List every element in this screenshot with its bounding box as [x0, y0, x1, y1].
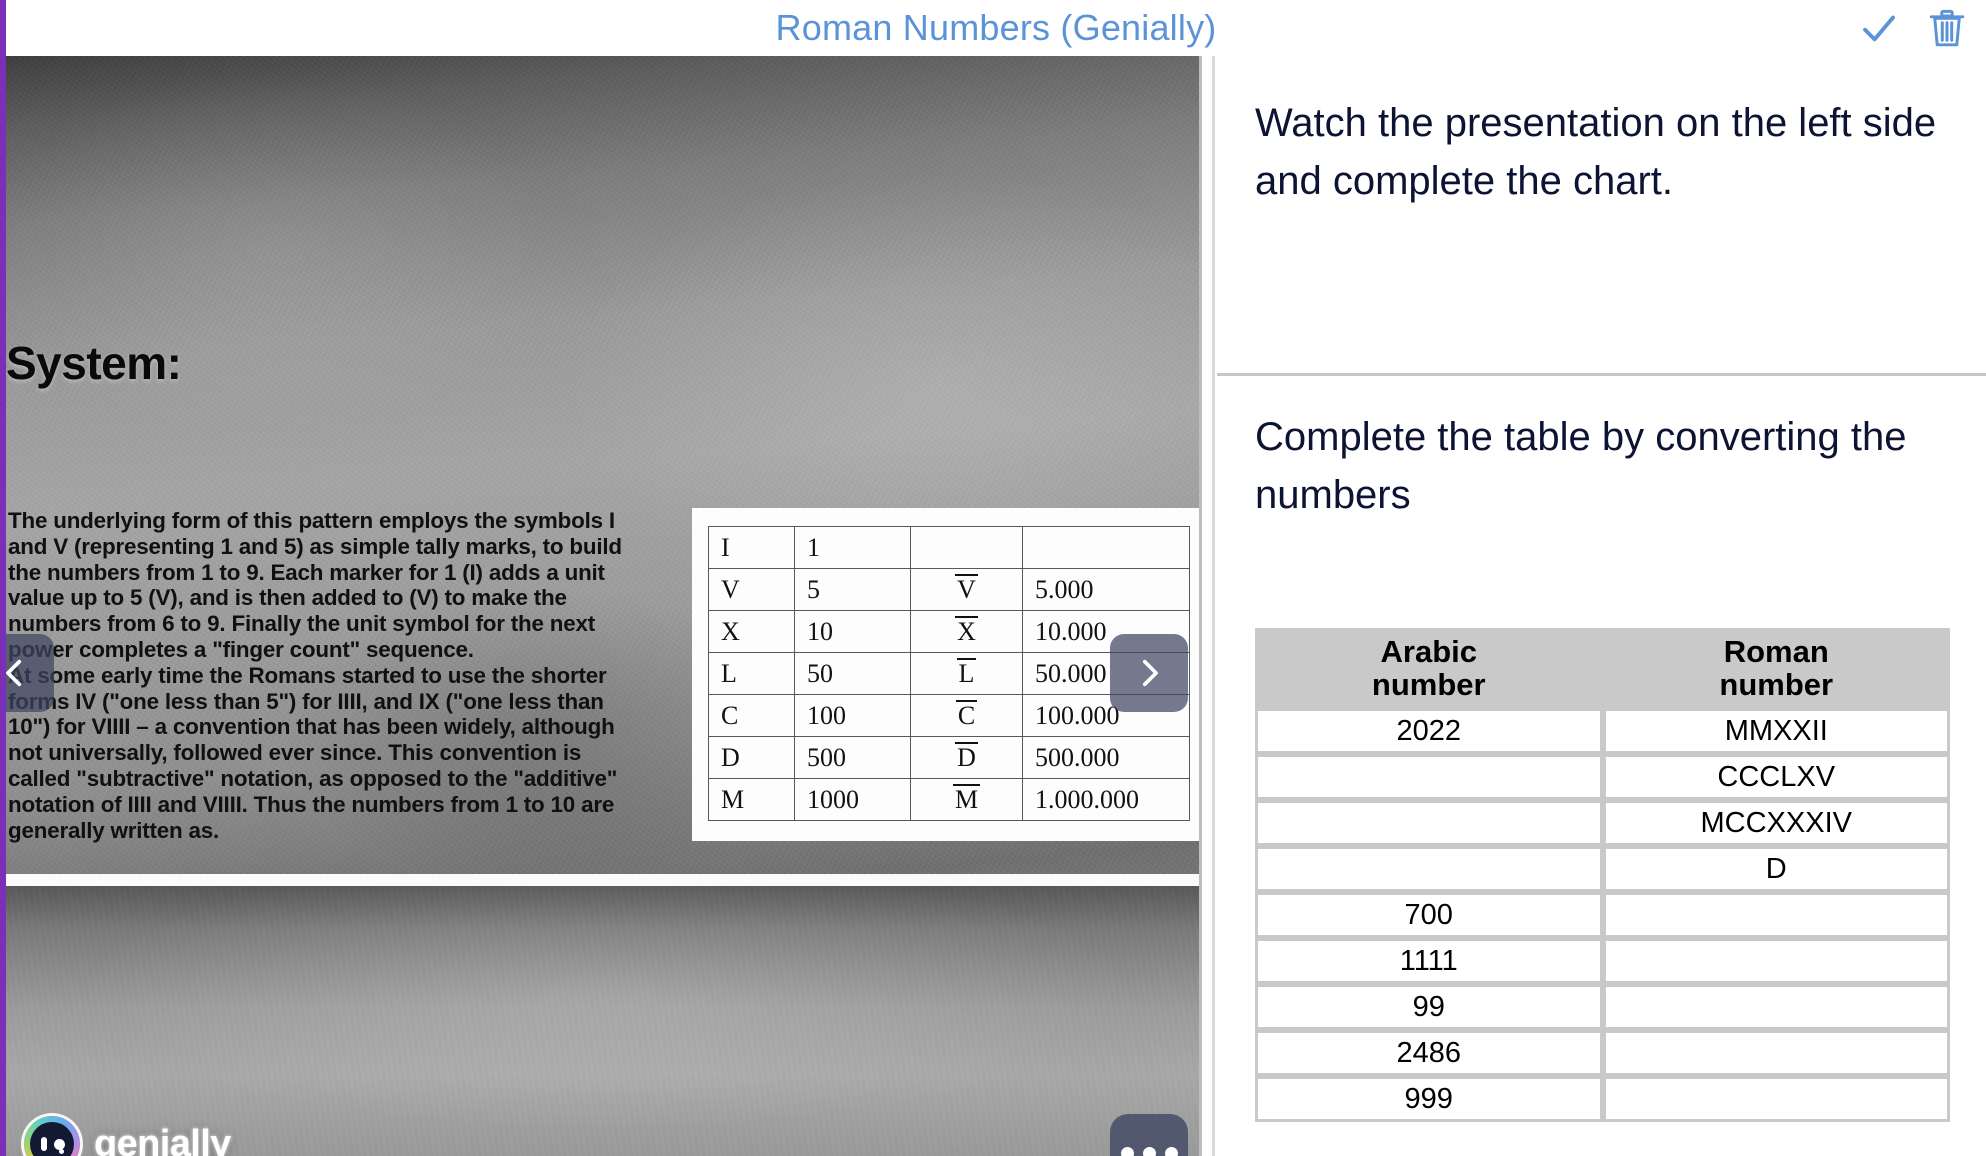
- numeral-barred-value: 1.000.000: [1023, 779, 1190, 821]
- cell-arabic[interactable]: 1111: [1255, 938, 1603, 984]
- page-title: Roman Numbers (Genially): [776, 7, 1217, 49]
- overbar-glyph: C: [956, 700, 977, 729]
- overbar-glyph: D: [955, 742, 978, 771]
- confirm-check-icon[interactable]: [1858, 7, 1900, 49]
- ellipsis-dot-icon: [1165, 1147, 1178, 1156]
- numeral-barred-value: 500.000: [1023, 737, 1190, 779]
- numeral-value: 1000: [795, 779, 911, 821]
- table-header-row: Arabic number Roman number: [1255, 628, 1950, 708]
- section-divider: [1217, 373, 1986, 376]
- slide-canvas: System: The underlying form of this patt…: [6, 56, 1199, 1156]
- table-row[interactable]: MCCXXXIV: [1255, 800, 1950, 846]
- table-row[interactable]: 99: [1255, 984, 1950, 1030]
- activity-pane: Watch the presentation on the left side …: [1215, 56, 1986, 1156]
- numeral-value: 100: [795, 695, 911, 737]
- header-actions: [1858, 0, 1968, 56]
- slide-heading: System:: [6, 336, 181, 390]
- numeral-barred-symbol: [911, 527, 1023, 569]
- cell-arabic[interactable]: 2486: [1255, 1030, 1603, 1076]
- cell-roman[interactable]: [1603, 1076, 1951, 1122]
- prev-slide-button[interactable]: [6, 634, 54, 712]
- cell-arabic[interactable]: [1255, 846, 1603, 892]
- numeral-symbol: M: [709, 779, 795, 821]
- cell-roman[interactable]: [1603, 892, 1951, 938]
- table-row[interactable]: 2022 MMXXII: [1255, 708, 1950, 754]
- numeral-symbol: V: [709, 569, 795, 611]
- genially-wordmark: genially: [94, 1123, 231, 1156]
- table-row: D 500 D 500.000: [709, 737, 1190, 779]
- cell-roman[interactable]: [1603, 984, 1951, 1030]
- chevron-right-icon: [1132, 656, 1166, 690]
- column-header-roman-line1: Roman: [1612, 635, 1942, 668]
- table-row[interactable]: 1111: [1255, 938, 1950, 984]
- next-slide-button[interactable]: [1110, 634, 1188, 712]
- cell-roman[interactable]: [1603, 1030, 1951, 1076]
- pane-divider: [1199, 56, 1215, 1156]
- numeral-value: 5: [795, 569, 911, 611]
- numeral-barred-symbol: C: [911, 695, 1023, 737]
- numeral-value: 500: [795, 737, 911, 779]
- cell-arabic[interactable]: 2022: [1255, 708, 1603, 754]
- genially-logo-face: [30, 1122, 74, 1156]
- cell-arabic[interactable]: [1255, 800, 1603, 846]
- delete-trash-icon[interactable]: [1926, 7, 1968, 49]
- cell-arabic[interactable]: 99: [1255, 984, 1603, 1030]
- slide-divider-band: [6, 874, 1199, 886]
- instruction-watch-presentation: Watch the presentation on the left side …: [1215, 94, 1986, 210]
- column-header-arabic: Arabic number: [1255, 628, 1603, 708]
- numeral-barred-value: 5.000: [1023, 569, 1190, 611]
- table-row[interactable]: D: [1255, 846, 1950, 892]
- genially-logo-icon: [24, 1116, 80, 1156]
- slide-body-text: The underlying form of this pattern empl…: [8, 508, 638, 843]
- cell-roman[interactable]: [1603, 938, 1951, 984]
- cell-roman[interactable]: CCCLXV: [1603, 754, 1951, 800]
- overbar-glyph: M: [953, 784, 980, 813]
- table-row: I 1: [709, 527, 1190, 569]
- conversion-table[interactable]: Arabic number Roman number 2022 MMXXII C: [1255, 628, 1950, 1122]
- cell-roman[interactable]: MCCXXXIV: [1603, 800, 1951, 846]
- column-header-roman: Roman number: [1603, 628, 1951, 708]
- numeral-barred-symbol: D: [911, 737, 1023, 779]
- ellipsis-dot-icon: [1121, 1147, 1134, 1156]
- numeral-barred-symbol: M: [911, 779, 1023, 821]
- slide-paragraph-1: The underlying form of this pattern empl…: [8, 508, 638, 663]
- column-header-arabic-line1: Arabic: [1264, 635, 1594, 668]
- main-body: System: The underlying form of this patt…: [0, 56, 1986, 1156]
- column-header-arabic-line2: number: [1264, 668, 1594, 701]
- cell-arabic[interactable]: 999: [1255, 1076, 1603, 1122]
- table-row[interactable]: CCCLXV: [1255, 754, 1950, 800]
- numeral-symbol: I: [709, 527, 795, 569]
- numeral-value: 50: [795, 653, 911, 695]
- overbar-glyph: X: [955, 616, 978, 645]
- numeral-value: 10: [795, 611, 911, 653]
- numeral-barred-value: [1023, 527, 1190, 569]
- table-row[interactable]: 999: [1255, 1076, 1950, 1122]
- numeral-symbol: X: [709, 611, 795, 653]
- instruction-complete-table: Complete the table by converting the num…: [1215, 408, 1986, 524]
- table-row: V 5 V 5.000: [709, 569, 1190, 611]
- numeral-barred-symbol: X: [911, 611, 1023, 653]
- numeral-value: 1: [795, 527, 911, 569]
- app-header: Roman Numbers (Genially): [0, 0, 1986, 56]
- table-row[interactable]: 700: [1255, 892, 1950, 938]
- presentation-embed[interactable]: System: The underlying form of this patt…: [0, 56, 1199, 1156]
- column-header-roman-line2: number: [1612, 668, 1942, 701]
- ellipsis-dot-icon: [1143, 1147, 1156, 1156]
- overbar-glyph: V: [955, 574, 978, 603]
- cell-roman[interactable]: D: [1603, 846, 1951, 892]
- overbar-glyph: L: [957, 658, 977, 687]
- numeral-symbol: C: [709, 695, 795, 737]
- cell-arabic[interactable]: 700: [1255, 892, 1603, 938]
- table-row: M 1000 M 1.000.000: [709, 779, 1190, 821]
- genially-brand-link[interactable]: genially: [24, 1116, 231, 1156]
- cell-arabic[interactable]: [1255, 754, 1603, 800]
- numeral-symbol: D: [709, 737, 795, 779]
- chevron-left-icon: [6, 656, 32, 690]
- numeral-symbol: L: [709, 653, 795, 695]
- numeral-barred-symbol: V: [911, 569, 1023, 611]
- more-options-button[interactable]: [1110, 1114, 1188, 1156]
- slide-paragraph-2: At some early time the Romans started to…: [8, 663, 638, 844]
- numeral-barred-symbol: L: [911, 653, 1023, 695]
- table-row[interactable]: 2486: [1255, 1030, 1950, 1076]
- cell-roman[interactable]: MMXXII: [1603, 708, 1951, 754]
